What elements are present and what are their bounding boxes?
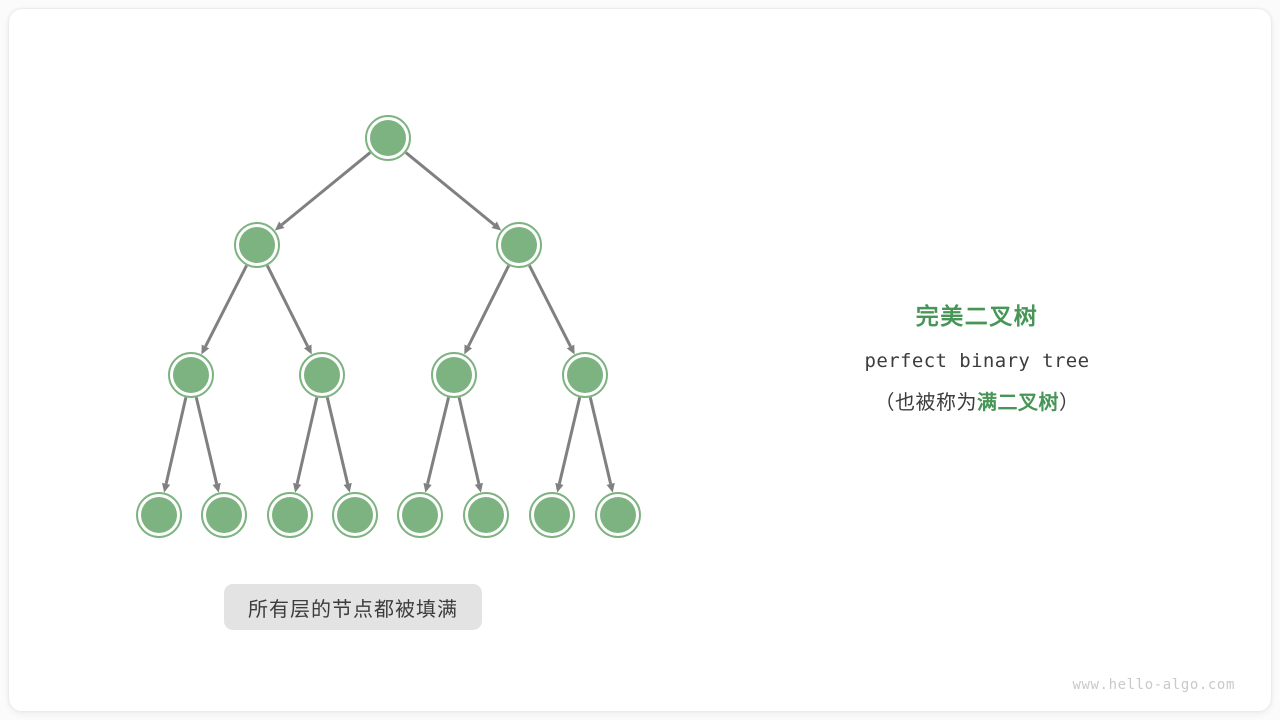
tree-edge bbox=[282, 153, 370, 225]
tree-node-disc bbox=[534, 497, 570, 533]
tree-edge bbox=[327, 397, 347, 483]
tree-node[interactable] bbox=[202, 493, 246, 537]
tree-node-disc bbox=[337, 497, 373, 533]
tree-node[interactable] bbox=[366, 116, 410, 160]
tree-node[interactable] bbox=[464, 493, 508, 537]
tree-edge-arrowhead bbox=[423, 483, 431, 493]
legend-alias-term: 满二叉树 bbox=[977, 392, 1059, 414]
tree-edge-arrowhead bbox=[344, 483, 352, 493]
tree-node[interactable] bbox=[169, 353, 213, 397]
tree-edge bbox=[166, 397, 186, 483]
page-root: 所有层的节点都被填满 完美二叉树 perfect binary tree （也被… bbox=[0, 0, 1280, 720]
site-watermark: www.hello-algo.com bbox=[1072, 677, 1235, 693]
tree-node-disc bbox=[600, 497, 636, 533]
tree-node-disc bbox=[206, 497, 242, 533]
legend-subtitle: perfect binary tree bbox=[797, 348, 1157, 374]
tree-edge bbox=[529, 266, 570, 347]
tree-node[interactable] bbox=[137, 493, 181, 537]
tree-edge-arrowhead bbox=[162, 483, 170, 493]
tree-edge bbox=[267, 266, 307, 347]
tree-node[interactable] bbox=[300, 353, 344, 397]
tree-edge bbox=[468, 266, 508, 347]
tree-node[interactable] bbox=[497, 223, 541, 267]
tree-node-disc bbox=[501, 227, 537, 263]
tree-node[interactable] bbox=[432, 353, 476, 397]
tree-edge bbox=[406, 153, 494, 225]
diagram-card: 所有层的节点都被填满 完美二叉树 perfect binary tree （也被… bbox=[8, 8, 1272, 712]
tree-node-disc bbox=[567, 357, 603, 393]
tree-node[interactable] bbox=[333, 493, 377, 537]
tree-edge-arrowhead bbox=[607, 483, 615, 493]
legend-title: 完美二叉树 bbox=[797, 301, 1157, 331]
tree-node-disc bbox=[468, 497, 504, 533]
legend-alias: （也被称为满二叉树） bbox=[797, 388, 1157, 418]
tree-node-layer bbox=[137, 116, 640, 537]
tree-edge-arrowhead bbox=[293, 483, 301, 493]
tree-edge bbox=[205, 266, 246, 347]
tree-edge bbox=[590, 397, 610, 483]
tree-node[interactable] bbox=[398, 493, 442, 537]
tree-node[interactable] bbox=[530, 493, 574, 537]
tree-node[interactable] bbox=[563, 353, 607, 397]
tree-node-disc bbox=[304, 357, 340, 393]
tree-edge bbox=[196, 397, 216, 483]
tree-node-disc bbox=[370, 120, 406, 156]
tree-edge bbox=[297, 397, 317, 483]
legend-block: 完美二叉树 perfect binary tree （也被称为满二叉树） bbox=[797, 301, 1157, 418]
legend-alias-prefix: （也被称为 bbox=[875, 392, 978, 414]
tree-edge bbox=[559, 397, 579, 483]
tree-node-disc bbox=[141, 497, 177, 533]
caption-pill: 所有层的节点都被填满 bbox=[224, 584, 482, 630]
tree-edge-arrowhead bbox=[213, 483, 221, 493]
tree-node-disc bbox=[402, 497, 438, 533]
tree-node-disc bbox=[272, 497, 308, 533]
tree-node[interactable] bbox=[268, 493, 312, 537]
tree-edge-arrowhead bbox=[555, 483, 563, 493]
tree-node[interactable] bbox=[596, 493, 640, 537]
tree-node-disc bbox=[173, 357, 209, 393]
tree-edge-layer bbox=[162, 153, 615, 493]
tree-edge bbox=[428, 397, 449, 484]
tree-node-disc bbox=[436, 357, 472, 393]
tree-edge-arrowhead bbox=[475, 483, 483, 493]
tree-node[interactable] bbox=[235, 223, 279, 267]
tree-node-disc bbox=[239, 227, 275, 263]
legend-alias-suffix: ） bbox=[1059, 392, 1080, 414]
tree-edge bbox=[459, 397, 479, 483]
caption-text: 所有层的节点都被填满 bbox=[248, 593, 458, 622]
